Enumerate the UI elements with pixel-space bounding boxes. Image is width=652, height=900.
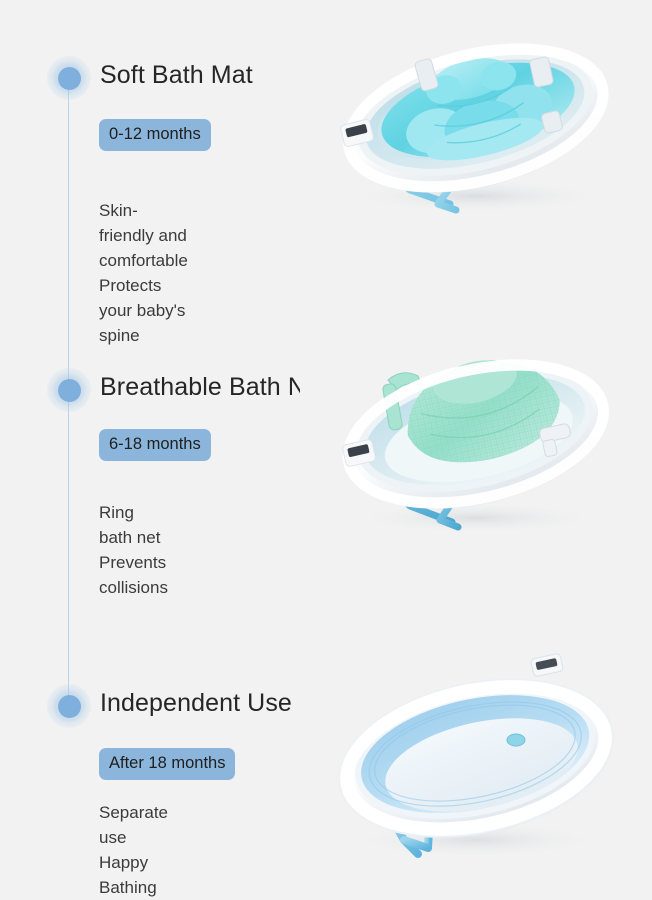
product-image-2 (300, 330, 652, 542)
section-title-1: Soft Bath Mat (100, 61, 253, 90)
age-badge-1: 0-12 months (99, 119, 211, 151)
section-description-2: Ring bath net Prevents collisions (99, 500, 168, 600)
age-badge-2: 6-18 months (99, 429, 211, 461)
product-image-3 (300, 640, 652, 872)
section-description-1: Skin-friendly and comfortable Protects y… (99, 198, 188, 348)
timeline-marker-3 (47, 684, 91, 728)
section-title-2: Breathable Bath Net (100, 373, 327, 402)
timeline-marker-2 (47, 368, 91, 412)
section-description-3: Separate use Happy Bathing (99, 800, 168, 900)
age-badge-3: After 18 months (99, 748, 235, 780)
timeline-marker-1 (47, 56, 91, 100)
product-image-1 (300, 18, 652, 218)
product-feature-infographic: Soft Bath Mat 0-12 months Skin-friendly … (0, 0, 652, 879)
section-title-3: Independent Use (100, 689, 292, 718)
